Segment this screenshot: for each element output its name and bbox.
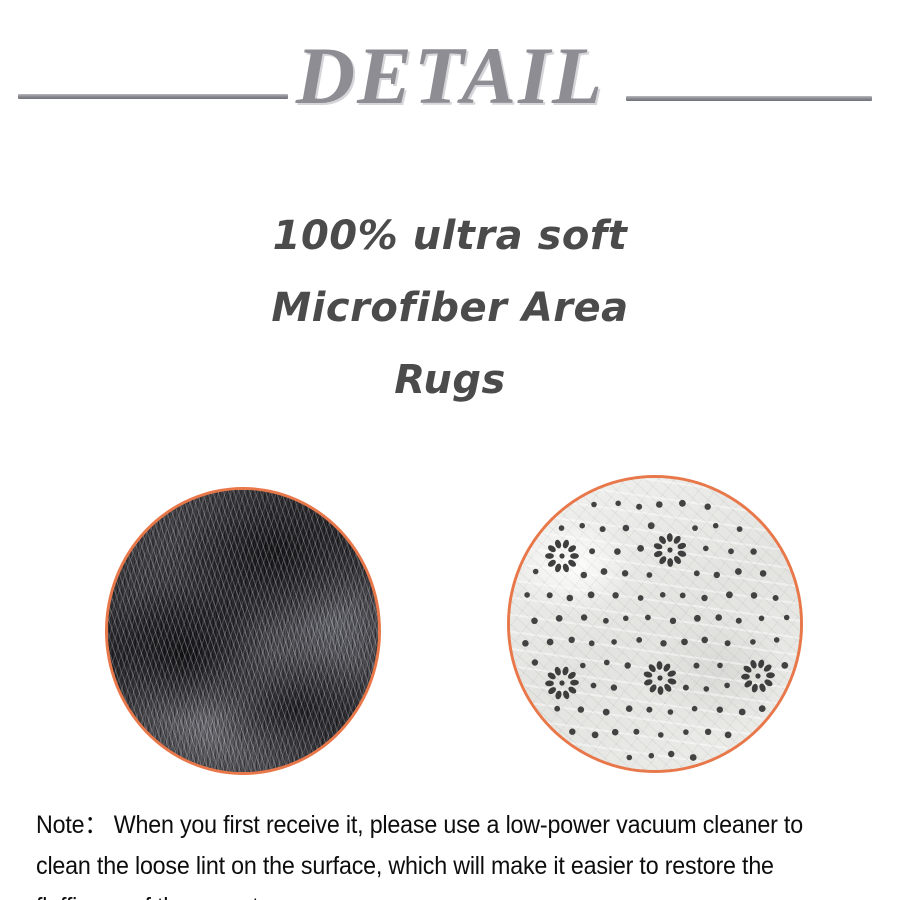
antislip-backing-photo xyxy=(510,478,800,770)
product-tagline: 100% ultra soft Microfiber Area Rugs xyxy=(0,200,900,416)
care-note-text: Note： When you first receive it, please … xyxy=(36,805,808,900)
tagline-line-2: Microfiber Area xyxy=(0,272,900,344)
backing-vignette xyxy=(510,478,800,770)
tagline-line-3: Rugs xyxy=(0,344,900,416)
shag-pile-vignette xyxy=(108,490,378,772)
product-detail-page: DETAIL 100% ultra soft Microfiber Area R… xyxy=(0,0,900,900)
header-banner: DETAIL xyxy=(0,28,900,118)
shag-pile-photo xyxy=(108,490,378,772)
page-title: DETAIL xyxy=(0,28,900,124)
tagline-line-1: 100% ultra soft xyxy=(0,200,900,272)
